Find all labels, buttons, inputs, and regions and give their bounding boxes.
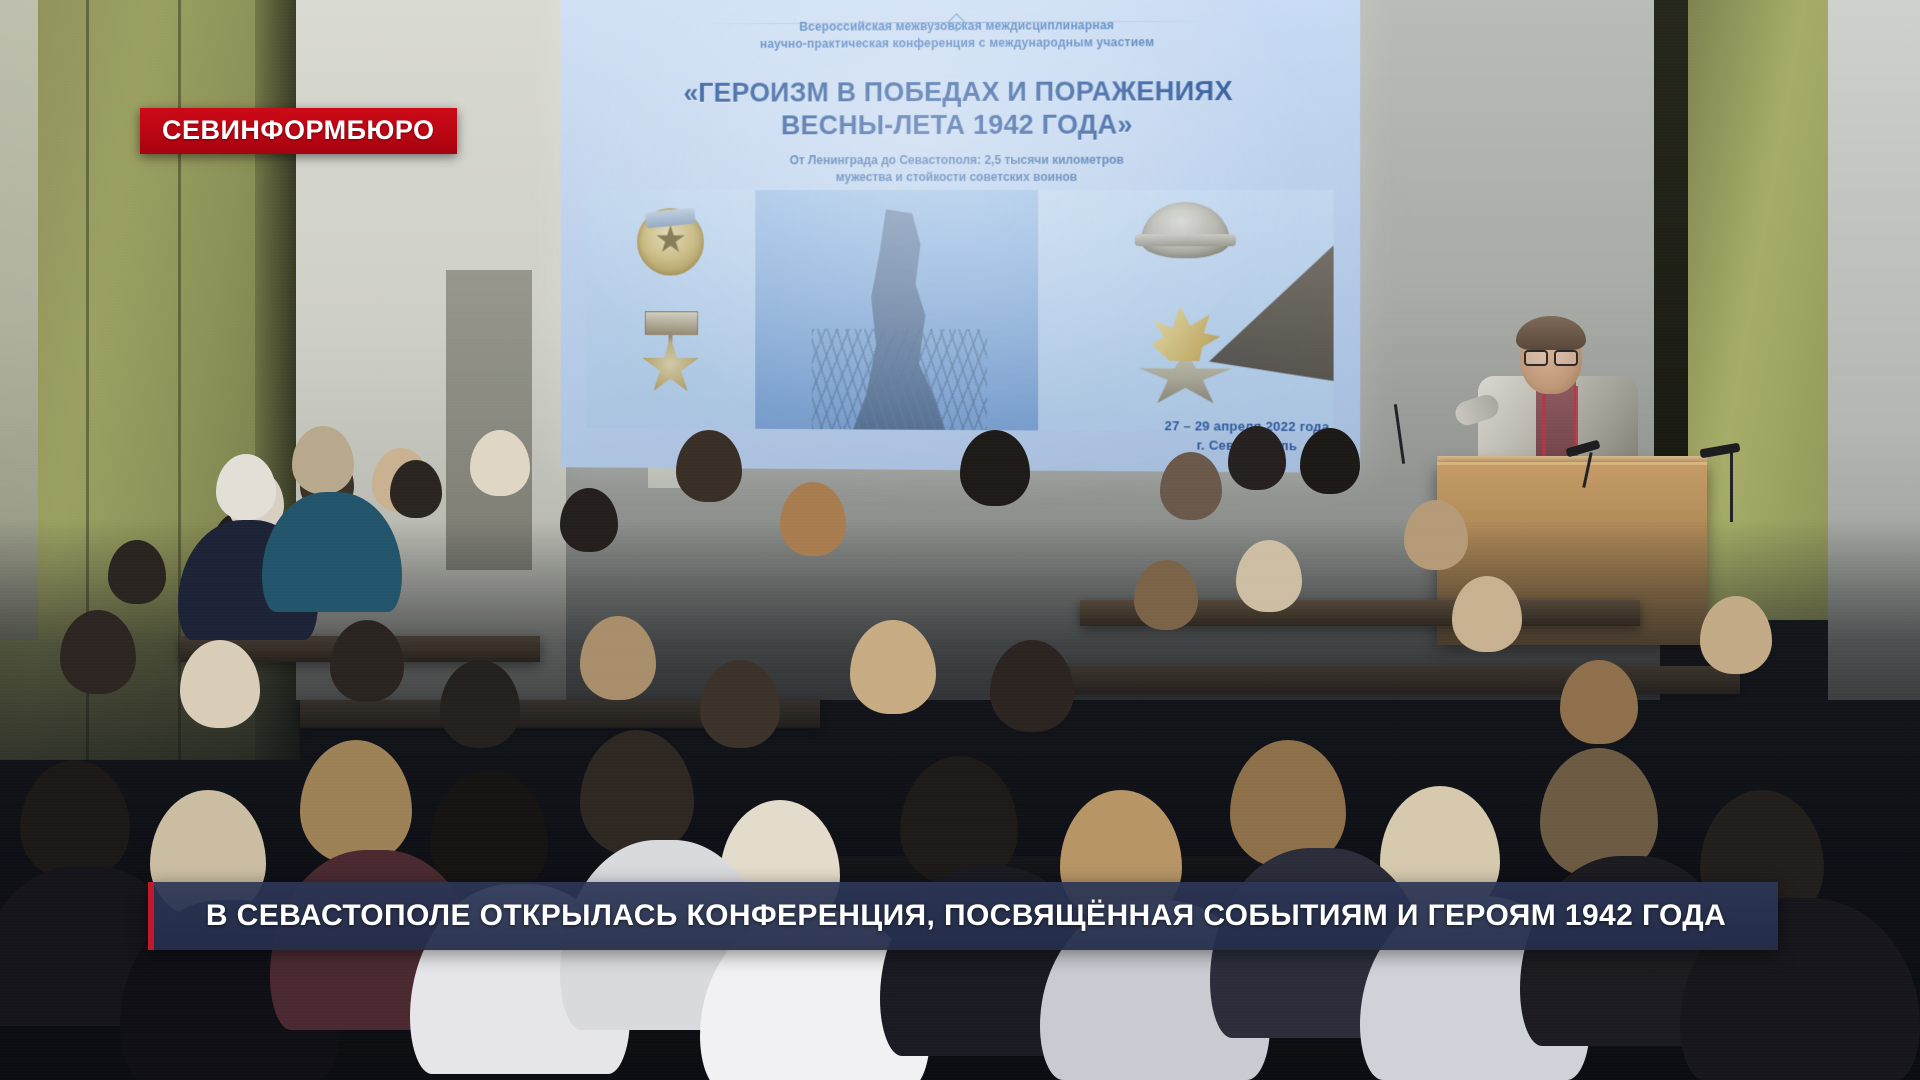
slide-title: «ГЕРОИЗМ В ПОБЕДАХ И ПОРАЖЕНИЯХ ВЕСНЫ-ЛЕ… — [561, 74, 1361, 142]
order-of-the-patriotic-war-icon — [641, 337, 700, 397]
headline-lower-third: В СЕВАСТОПОЛЕ ОТКРЫЛАСЬ КОНФЕРЕНЦИЯ, ПОС… — [148, 882, 1778, 950]
eternal-flame-star-icon — [1129, 302, 1242, 403]
slide-tagline-line-1: От Ленинграда до Севастополя: 2,5 тысячи… — [561, 151, 1361, 170]
order-of-the-red-banner-icon — [637, 208, 704, 276]
channel-logo-badge: СЕВИНФОРМБЮРО — [140, 108, 457, 154]
slide-tagline: От Ленинграда до Севастополя: 2,5 тысячи… — [561, 151, 1361, 187]
slide-subtitle-line-2: научно-практическая конференция с междун… — [561, 34, 1361, 52]
audience-head — [390, 460, 442, 518]
medal-ribbon-bar-icon — [645, 311, 698, 335]
slide-image-band — [586, 190, 1334, 432]
slide-title-line-1: «ГЕРОИЗМ В ПОБЕДАХ И ПОРАЖЕНИЯХ — [561, 74, 1361, 110]
soviet-helmet-icon — [1141, 202, 1230, 258]
slide-monument-photo — [755, 190, 1038, 431]
speaker-glasses-icon — [1524, 350, 1578, 362]
slide-medals-column — [586, 190, 755, 429]
slide-tagline-line-2: мужества и стойкости советских воинов — [561, 169, 1361, 187]
projected-slide: Филиал МГУ в городе Севастополе Всеросси… — [561, 0, 1361, 473]
cranes-silhouette-icon — [812, 329, 988, 430]
broadcast-frame: Филиал МГУ в городе Севастополе Всеросси… — [0, 0, 1920, 1080]
helmet-base-icon — [1135, 234, 1236, 246]
slide-emblems-column — [1038, 190, 1333, 432]
channel-logo-text: СЕВИНФОРМБЮРО — [162, 117, 435, 144]
microphone-stand — [1730, 452, 1733, 522]
headline-text: В СЕВАСТОПОЛЕ ОТКРЫЛАСЬ КОНФЕРЕНЦИЯ, ПОС… — [206, 899, 1726, 933]
slide-title-line-2: ВЕСНЫ-ЛЕТА 1942 ГОДА» — [561, 108, 1361, 143]
